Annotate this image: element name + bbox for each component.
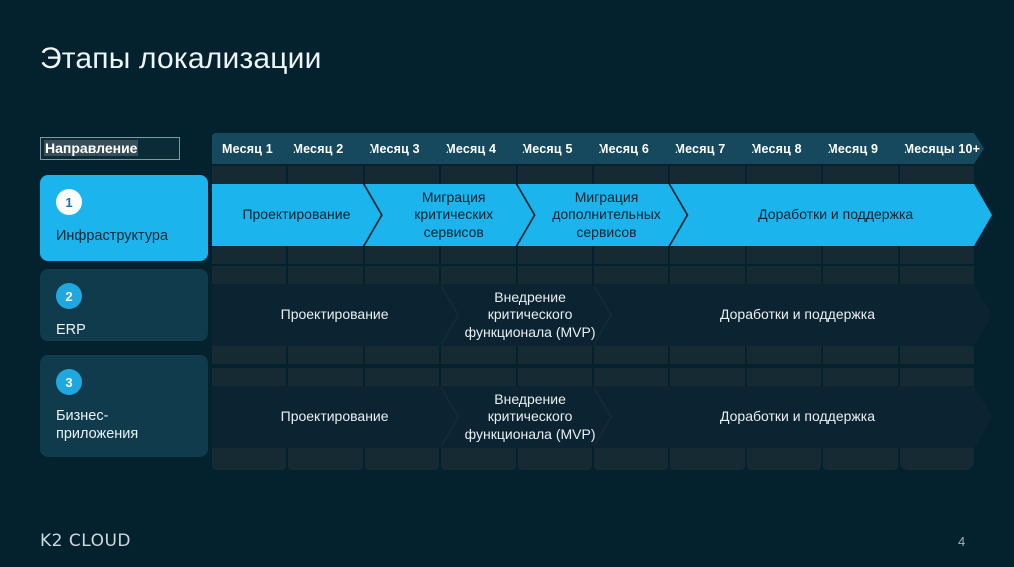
timeline-task[interactable]: Проектирование [212,284,457,346]
month-header-label: Месяц 1 [212,142,273,156]
direction-header-label: Направление [44,140,138,156]
page-title: Этапы локализации [40,42,322,76]
row-separator [212,364,974,368]
timeline-task-label: Проектирование [228,206,364,223]
timeline-task-label: Миграция критических сервисов [391,189,507,240]
timeline-task[interactable]: Доработки и поддержка [670,184,992,246]
brand-logo: K2 CLOUD [40,531,131,551]
page-number: 4 [958,534,965,549]
timeline-task-label: Доработки и поддержка [697,306,889,323]
timeline-task-label: Доработки и поддержка [697,408,889,425]
sidebar-item-label: Бизнес- приложения [56,407,192,443]
timeline-task[interactable]: Доработки и поддержка [594,386,992,448]
timeline-task[interactable]: Миграция критических сервисов [365,184,534,246]
sidebar-item-number: 2 [56,283,82,309]
sidebar-item-1[interactable]: 1Инфраструктура [40,175,208,261]
timeline-task-label: Доработки и поддержка [735,206,927,223]
sidebar-item-number: 3 [56,369,82,395]
timeline-task-label: Проектирование [267,306,403,323]
slide-canvas: Этапы локализации Направление 1Инфрастру… [0,0,1014,567]
month-header-1: Месяц 1 [212,133,296,164]
timeline-task-label: Проектирование [267,408,403,425]
direction-header-box: Направление [40,137,180,160]
sidebar-item-3[interactable]: 3Бизнес- приложения [40,355,208,457]
timeline-grid: Месяц 1Месяц 2Месяц 3Месяц 4Месяц 5Месяц… [212,133,974,470]
sidebar-item-label: Инфраструктура [56,227,192,245]
timeline-task-label: Внедрение критического функционала (MVP) [442,391,610,442]
timeline-task[interactable]: Миграция дополнительных сервисов [518,184,687,246]
timeline-task-label: Внедрение критического функционала (MVP) [442,289,610,340]
sidebar-item-2[interactable]: 2ERP [40,269,208,341]
timeline-task[interactable]: Внедрение критического функционала (MVP) [441,284,610,346]
sidebar-item-label: ERP [56,321,192,339]
sidebar-item-number: 1 [56,189,82,215]
timeline-task[interactable]: Проектирование [212,184,381,246]
timeline-task[interactable]: Внедрение критического функционала (MVP) [441,386,610,448]
timeline-task-label: Миграция дополнительных сервисов [529,189,675,240]
timeline-task[interactable]: Доработки и поддержка [594,284,992,346]
timeline-task[interactable]: Проектирование [212,386,457,448]
row-separator [212,264,974,266]
